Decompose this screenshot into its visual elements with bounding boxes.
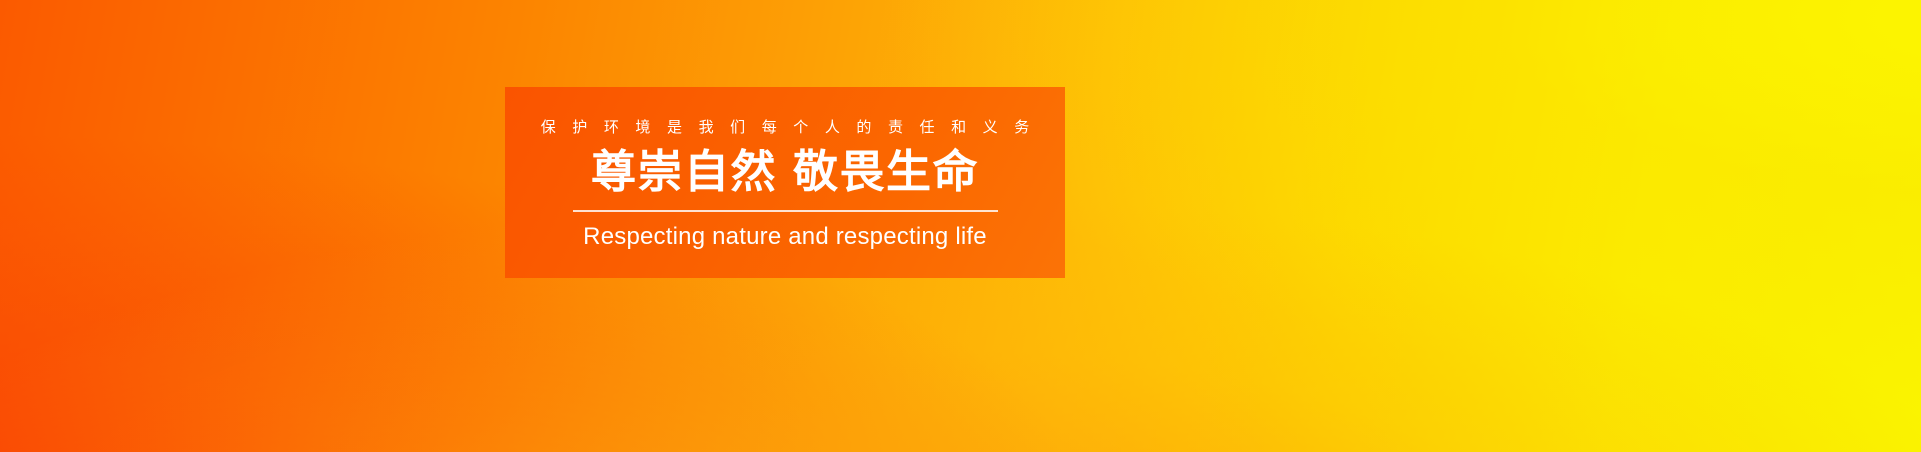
divider-rule — [573, 210, 998, 212]
headline-part-one: 尊崇自然 — [591, 146, 777, 197]
tagline-text: 保 护 环 境 是 我 们 每 个 人 的 责 任 和 义 务 — [535, 120, 1036, 135]
slogan-panel: 保 护 环 境 是 我 们 每 个 人 的 责 任 和 义 务 尊崇自然敬畏生命… — [505, 87, 1065, 278]
headline-part-two: 敬畏生命 — [793, 146, 979, 197]
environmental-slogan-banner: 保 护 环 境 是 我 们 每 个 人 的 责 任 和 义 务 尊崇自然敬畏生命… — [0, 0, 1921, 452]
headline: 尊崇自然敬畏生命 — [591, 148, 979, 197]
subtitle-text: Respecting nature and respecting life — [583, 224, 987, 250]
